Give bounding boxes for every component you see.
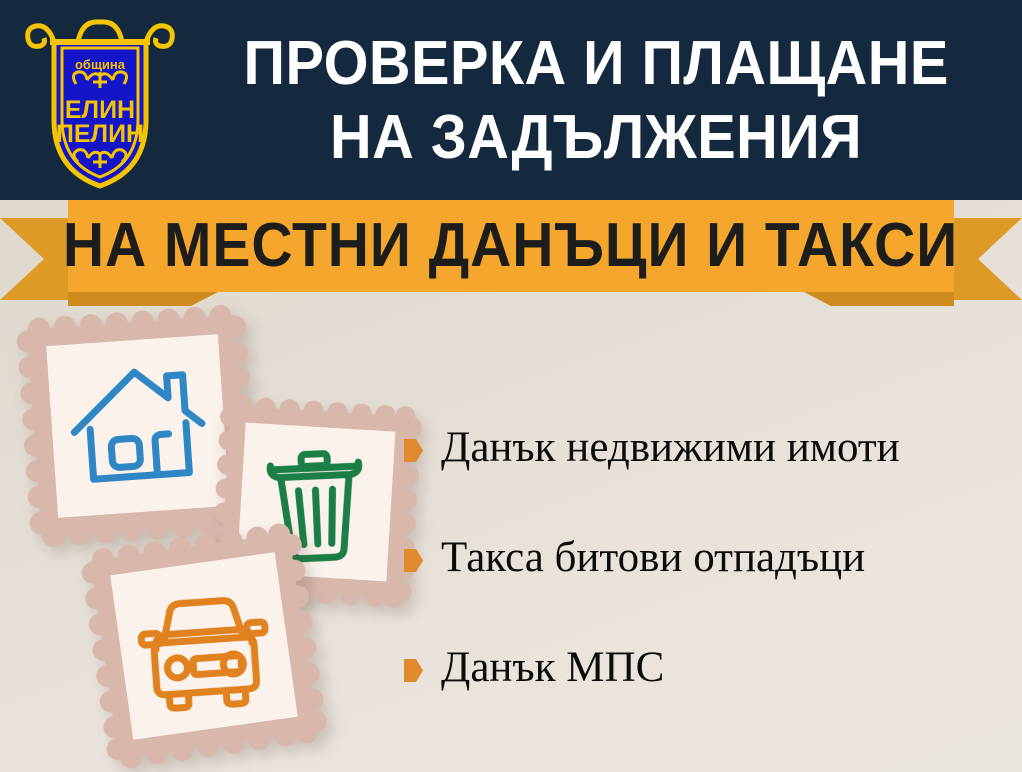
ribbon-banner: НА МЕСТНИ ДАНЪЦИ И ТАКСИ [0,196,1022,314]
title-line-2: НА ЗАДЪЛЖЕНИЯ [330,101,862,175]
title-line-1: ПРОВЕРКА И ПЛАЩАНЕ [243,27,948,101]
list-item[interactable]: Данък недвижими имоти [404,424,1014,472]
ribbon-fold-right [804,292,954,306]
header-bar: община ЕЛИН ПЕЛИН [0,0,1022,200]
list-item[interactable]: Такса битови отпадъци [404,534,1014,582]
list-item-label: Данък МПС [441,644,664,692]
crest-logo: община ЕЛИН ПЕЛИН [24,12,176,190]
ribbon-main-panel: НА МЕСТНИ ДАНЪЦИ И ТАКСИ [68,200,954,292]
arrow-bullet-icon [404,549,423,572]
crest-text-top: община [75,57,126,72]
ribbon-fold-left [68,292,218,306]
stamp-collage [0,300,430,772]
poster-root: община ЕЛИН ПЕЛИН [0,0,1022,772]
poster-title: ПРОВЕРКА И ПЛАЩАНЕ НА ЗАДЪЛЖЕНИЯ [186,18,1006,184]
tax-type-list: Данък недвижими имоти Такса битови отпад… [404,424,1014,754]
crest-text-line2: ПЕЛИН [56,120,144,148]
arrow-bullet-icon [404,659,423,682]
arrow-bullet-icon [404,439,423,462]
list-item[interactable]: Данък МПС [404,644,1014,692]
vehicle-stamp [73,515,335,772]
list-item-label: Такса битови отпадъци [441,534,865,582]
list-item-label: Данък недвижими имоти [441,424,900,472]
ribbon-label: НА МЕСТНИ ДАНЪЦИ И ТАКСИ [63,215,958,277]
